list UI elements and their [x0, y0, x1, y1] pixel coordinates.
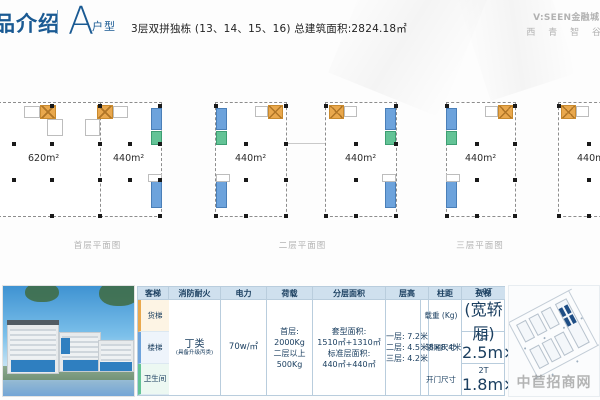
site-marker — [543, 337, 546, 340]
load-line-4: 500Kg — [277, 359, 303, 370]
height-line-1: 一层: 7.2米 — [386, 331, 428, 342]
side-label-freight-elevator: 货梯 — [138, 300, 169, 332]
plan3-core-l — [498, 105, 513, 119]
plan1-area-right: 440m² — [113, 153, 144, 164]
photo-tree-left — [25, 285, 59, 302]
plan2-elevator-r-top — [385, 108, 396, 130]
th-floor-area: 分层面积 — [313, 287, 386, 300]
load-line-2: 2000Kg — [274, 337, 305, 348]
plan2-stair-r — [344, 106, 357, 117]
plan2-column — [244, 142, 248, 146]
plan3-column — [557, 104, 561, 108]
plan3-area-right: 440m² — [577, 153, 600, 164]
plan2-link — [287, 143, 325, 144]
elevator-car-size-main: 2T — [462, 334, 505, 343]
site-watermark: 中苣招商网 — [509, 372, 599, 392]
plan3-column — [587, 142, 591, 146]
plan2-stair-l — [255, 106, 268, 117]
elevator-door-size-value: 2T 1.8m×2.3m — [462, 366, 505, 394]
th-passenger-elevator: 客梯 — [138, 287, 169, 300]
floor-plan-3: 440m² 440m² 三层平面图 — [420, 88, 600, 253]
plan2-column — [284, 214, 288, 218]
plan2-column — [324, 214, 328, 218]
plan1-column — [98, 214, 102, 218]
plan1-column — [158, 104, 162, 108]
photo-water — [3, 380, 134, 396]
fire-main: 丁类 — [185, 339, 205, 350]
td-floor-area: 套型面积: 1510㎡+1310㎡ 标准层面积: 440㎡+440㎡ — [313, 300, 386, 395]
plan1-column — [50, 214, 54, 218]
plan1-column — [128, 142, 132, 146]
title-divider — [57, 10, 58, 34]
slide-page: 品介绍 A 户型 3层双拼独栋 (13、14、15、16) 总建筑面积:2824… — [0, 0, 600, 400]
floor-plan-1: 620m² 440m² 首层平面图 — [0, 88, 195, 253]
load-line-3: 二层以上 — [274, 348, 306, 359]
plan3-column — [513, 214, 517, 218]
plan2-restroom-l — [216, 131, 227, 145]
plan2-vestibule-r — [382, 174, 396, 182]
bottom-row: 货梯 楼梯 卫生间 客梯 消防耐火 电力 荷载 分层面积 层高 柱距 货梯 丁类… — [0, 285, 600, 400]
plan2-column — [214, 214, 218, 218]
plan2-area-right: 440m² — [345, 153, 376, 164]
plan3-column — [513, 178, 517, 182]
plan1-column — [50, 142, 54, 146]
plan2-column — [244, 214, 248, 218]
td-load: 首层: 2000Kg 二层以上 500Kg — [267, 300, 313, 395]
page-title: 品介绍 — [0, 8, 60, 38]
plan3-column — [475, 142, 479, 146]
photo-facade — [101, 344, 131, 362]
plan1-area-left: 620m² — [28, 153, 59, 164]
plan1-column — [50, 104, 54, 108]
unit-type-label: 户型 — [92, 18, 116, 34]
plan3-column — [445, 214, 449, 218]
plan2-column — [354, 142, 358, 146]
plan1-column — [128, 178, 132, 182]
th-column-span: 柱距 — [429, 287, 462, 300]
plan1-lobby-b — [85, 119, 100, 136]
plan1-caption: 首层平面图 — [0, 239, 195, 251]
plan2-column — [244, 178, 248, 182]
elevator-door-size-label: 开门尺寸 — [420, 374, 462, 385]
plan1-column — [158, 178, 162, 182]
photo-glass-3 — [63, 360, 99, 371]
elevator-car-size-label: 轿厢尺寸 — [420, 342, 462, 353]
side-label-restroom: 卫生间 — [138, 364, 169, 395]
elevator-capacity-label: 载重 (Kg) — [420, 310, 462, 321]
plan2-area-left: 440m² — [235, 153, 266, 164]
site-plan-map: 中苣招商网 — [508, 285, 600, 397]
photo-tree-right — [99, 285, 135, 306]
elevator-door-size-sub: 1.8m×2.3m — [462, 375, 505, 394]
power-value: 70w/㎡ — [229, 342, 258, 353]
th-load: 荷载 — [267, 287, 313, 300]
plan3-column — [475, 214, 479, 218]
plan1-stair-b — [113, 106, 128, 118]
elevator-capacity-main: 2.0T — [462, 287, 505, 296]
plan2-elevator-l-top — [216, 108, 227, 130]
plan2-elevator-l-bottom — [216, 181, 227, 208]
plan3-area-left: 440m² — [465, 153, 496, 164]
plan3-vestibule-l — [446, 174, 460, 182]
brand-name-top: V:SEEN金融城 — [526, 10, 600, 23]
plan1-lobby-a — [47, 119, 63, 136]
plan2-column — [394, 142, 398, 146]
elevator-door-size-main: 2T — [462, 366, 505, 375]
brand-name-bottom: 西 青 智 谷 — [526, 25, 600, 38]
plan1-stair-a — [24, 106, 40, 118]
area-line-2: 1510㎡+1310㎡ — [317, 337, 380, 348]
plan3-column — [587, 178, 591, 182]
fire-sub: (具备升级丙类) — [176, 350, 213, 357]
plan1-column — [12, 142, 16, 146]
side-label-stairs: 楼梯 — [138, 332, 169, 364]
plan3-column — [557, 214, 561, 218]
photo-roof-1 — [7, 320, 59, 325]
plan3-column — [513, 104, 517, 108]
brand-logo: V:SEEN金融城 西 青 智 谷 — [526, 10, 600, 38]
photo-glass-2 — [61, 338, 70, 354]
plan2-elevator-r-bottom — [385, 181, 396, 208]
plan3-column — [587, 214, 591, 218]
plan3-stair-r — [576, 106, 589, 117]
plan2-column — [394, 214, 398, 218]
plan1-column — [12, 178, 16, 182]
photo-glass-4 — [100, 362, 132, 371]
plan2-core-l — [268, 105, 283, 119]
plan1-elevator-top — [151, 108, 162, 130]
plan1-column — [50, 178, 54, 182]
plan3-restroom-l — [446, 131, 457, 145]
th-floor-height: 层高 — [386, 287, 429, 300]
floor-plan-2: 440m² 440m² — [200, 88, 405, 253]
spec-table: 货梯 楼梯 卫生间 客梯 消防耐火 电力 荷载 分层面积 层高 柱距 货梯 丁类… — [137, 286, 505, 396]
plan3-column — [475, 178, 479, 182]
th-fire-rating: 消防耐火 — [169, 287, 221, 300]
plan1-column — [98, 142, 102, 146]
header: 品介绍 A 户型 3层双拼独栋 (13、14、15、16) 总建筑面积:2824… — [0, 0, 600, 52]
td-fire-rating: 丁类 (具备升级丙类) — [169, 300, 221, 395]
plan2-column — [354, 214, 358, 218]
plan1-column — [158, 142, 162, 146]
plan1-column — [98, 178, 102, 182]
plan2-core-r — [329, 105, 344, 119]
plan1-elevator-bottom — [151, 181, 162, 208]
plan1-column — [98, 104, 102, 108]
plan3-core-r — [561, 105, 576, 119]
plan2-vestibule-l — [216, 174, 230, 182]
plan2-column — [394, 104, 398, 108]
building-rendering-image — [2, 285, 135, 397]
elevator-car-size-value: 2T 2.5m×1.8m×2.4m — [462, 334, 505, 362]
site-marker — [576, 360, 579, 363]
elevator-row-door-size: 开门尺寸 2T 1.8m×2.3m — [462, 364, 505, 395]
photo-facade — [10, 329, 56, 359]
area-line-4: 440㎡+440㎡ — [322, 359, 375, 370]
elevator-row-capacity: 载重 (Kg) 2.0T (宽轿厢) — [462, 300, 505, 332]
height-line-3: 三层: 4.2米 — [386, 353, 428, 364]
elevator-car-size-sub: 2.5m×1.8m×2.4m — [462, 343, 505, 362]
th-power: 电力 — [221, 287, 267, 300]
plan2-column — [284, 142, 288, 146]
plan2-column — [284, 104, 288, 108]
area-line-1: 套型面积: — [332, 326, 367, 337]
plan3-elevator-l-top — [446, 108, 457, 130]
td-power: 70w/㎡ — [221, 300, 267, 395]
elevator-label-divider — [420, 300, 421, 395]
elevator-row-car-size: 轿厢尺寸 2T 2.5m×1.8m×2.4m — [462, 332, 505, 364]
plan3-elevator-l-bottom — [446, 181, 457, 208]
plan2-column — [214, 104, 218, 108]
plan1-column — [158, 214, 162, 218]
unit-type-letter: A — [68, 2, 94, 40]
plan2-column — [284, 178, 288, 182]
photo-glass-1 — [11, 360, 55, 372]
plan2-column — [324, 104, 328, 108]
site-marker — [524, 347, 527, 350]
area-line-3: 标准层面积: — [328, 348, 371, 359]
plan3-column — [445, 104, 449, 108]
load-line-1: 首层: — [280, 326, 299, 337]
floor-plans-strip: 620m² 440m² 首层平面图 — [0, 88, 600, 253]
plan3-stair-l — [485, 106, 498, 117]
plan2-column — [354, 178, 358, 182]
site-marker — [563, 326, 566, 329]
header-subtitle: 3层双拼独栋 (13、14、15、16) 总建筑面积:2824.18㎡ — [131, 21, 407, 36]
plan3-caption: 三层平面图 — [395, 239, 565, 251]
plan3-column — [513, 142, 517, 146]
plan2-caption: 二层平面图 — [200, 239, 405, 251]
